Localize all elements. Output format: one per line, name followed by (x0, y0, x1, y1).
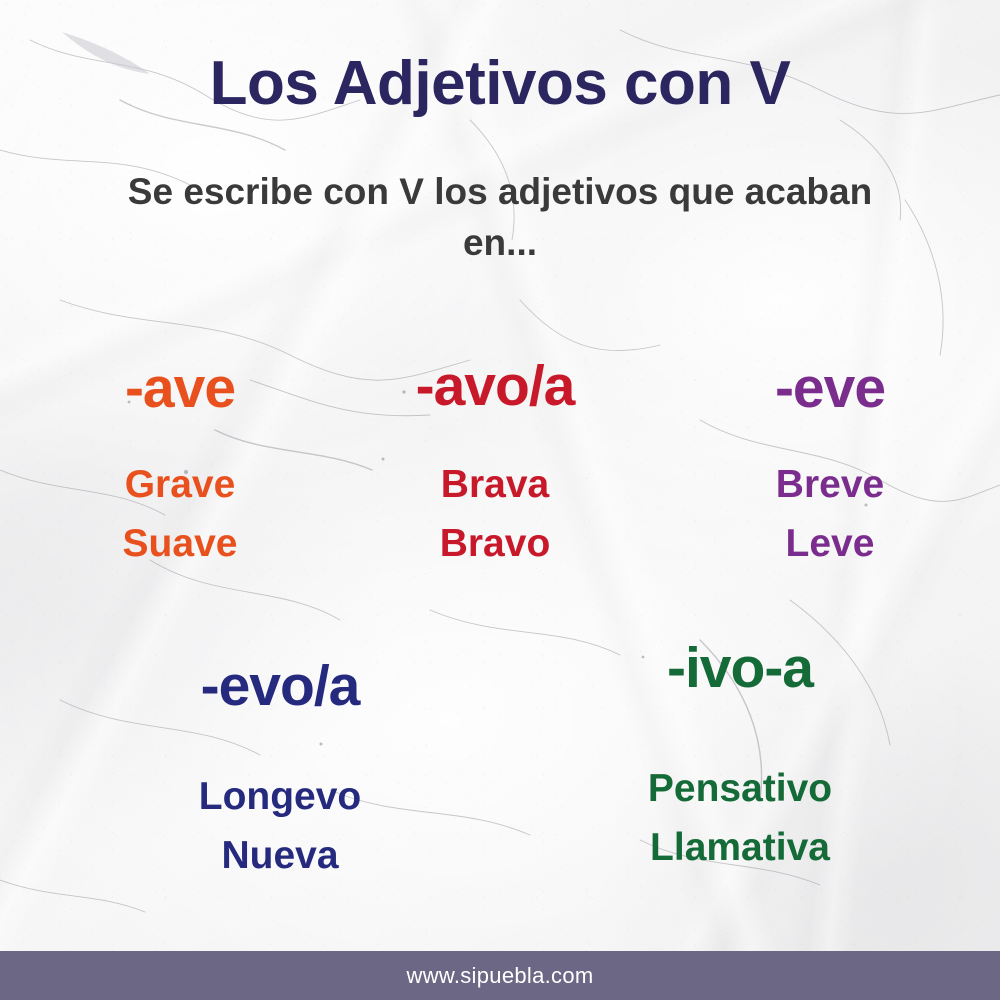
suffix-heading-ivoa: -ivo-a (570, 640, 910, 697)
suffix-heading-avoa: -avo/a (330, 358, 660, 415)
suffix-group-ivoa: -ivo-a Pensativo Llamativa (570, 640, 910, 878)
suffix-group-avoa: -avo/a Brava Bravo (330, 358, 660, 574)
example-list-ave: Grave Suave (40, 455, 320, 574)
suffix-group-ave: -ave Grave Suave (40, 360, 320, 574)
footer-bar: www.sipuebla.com (0, 951, 1000, 1000)
example-word: Suave (40, 514, 320, 573)
suffix-heading-ave: -ave (40, 360, 320, 417)
page-title: Los Adjetivos con V (0, 48, 1000, 119)
suffix-heading-eve: -eve (690, 360, 970, 417)
suffix-heading-evoa: -evo/a (115, 658, 445, 715)
poster-content: Los Adjetivos con V Se escribe con V los… (0, 0, 1000, 1000)
example-word: Brava (330, 455, 660, 514)
example-word: Leve (690, 514, 970, 573)
example-word: Nueva (115, 826, 445, 885)
example-list-ivoa: Pensativo Llamativa (570, 759, 910, 878)
footer-website-url[interactable]: www.sipuebla.com (407, 963, 594, 989)
example-word: Grave (40, 455, 320, 514)
example-list-evoa: Longevo Nueva (115, 767, 445, 886)
example-word: Longevo (115, 767, 445, 826)
suffix-group-eve: -eve Breve Leve (690, 360, 970, 574)
example-word: Bravo (330, 514, 660, 573)
example-list-eve: Breve Leve (690, 455, 970, 574)
example-word: Llamativa (570, 818, 910, 877)
suffix-group-evoa: -evo/a Longevo Nueva (115, 658, 445, 886)
example-word: Breve (690, 455, 970, 514)
example-word: Pensativo (570, 759, 910, 818)
example-list-avoa: Brava Bravo (330, 455, 660, 574)
poster-canvas: Los Adjetivos con V Se escribe con V los… (0, 0, 1000, 1000)
page-subtitle: Se escribe con V los adjetivos que acaba… (110, 166, 890, 268)
